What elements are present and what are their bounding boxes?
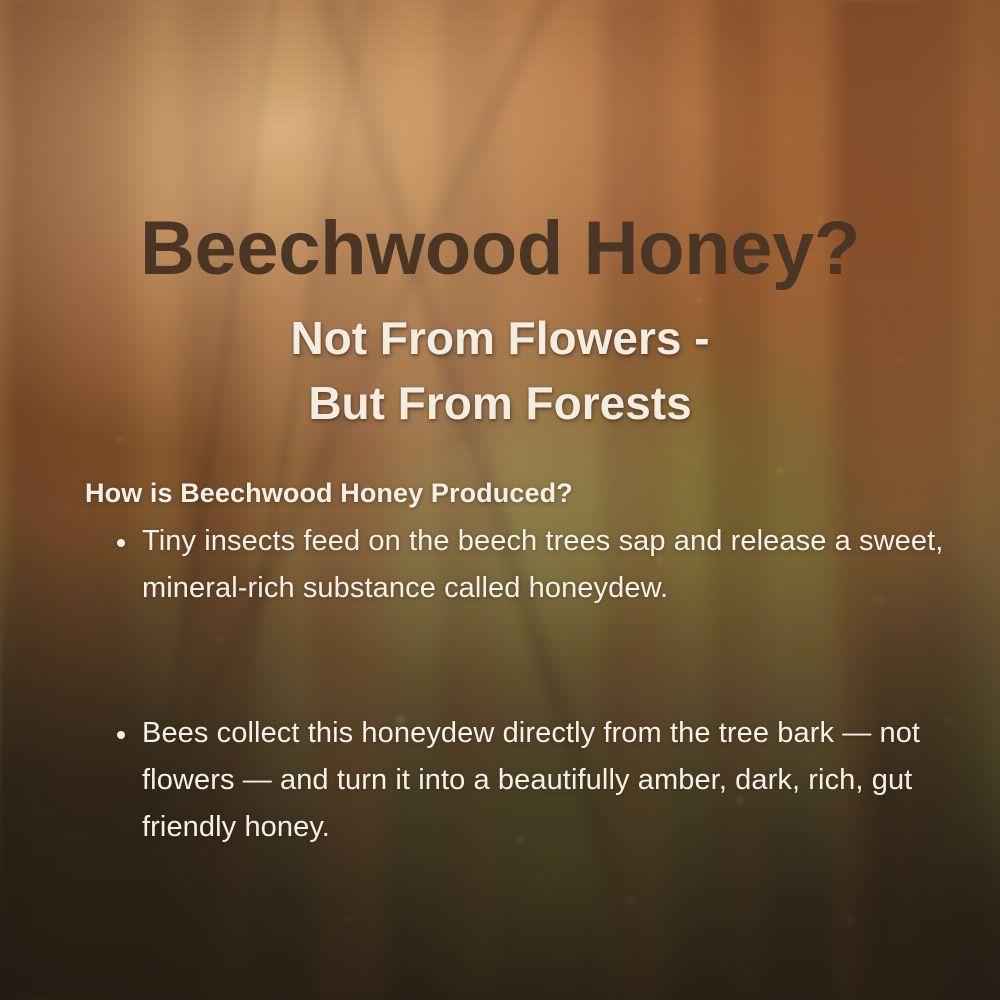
card-content: Beechwood Honey? Not From Flowers - But … <box>0 0 1000 1000</box>
beechwood-honey-infographic-card: Beechwood Honey? Not From Flowers - But … <box>0 0 1000 1000</box>
list-item-text: Tiny insects feed on the beech trees sap… <box>142 525 943 604</box>
bullet-dot-icon <box>117 539 125 547</box>
list-item-text: Bees collect this honeydew directly from… <box>142 717 920 843</box>
bullet-list: Tiny insects feed on the beech trees sap… <box>85 518 955 851</box>
subtitle-line-1: Not From Flowers - <box>0 306 1000 371</box>
page-subtitle: Not From Flowers - But From Forests <box>0 306 1000 437</box>
body-section: How is Beechwood Honey Produced? Tiny in… <box>85 478 955 851</box>
subtitle-line-2: But From Forests <box>0 371 1000 436</box>
bullet-dot-icon <box>117 731 125 739</box>
page-title: Beechwood Honey? <box>0 211 1000 287</box>
list-item: Bees collect this honeydew directly from… <box>85 710 955 851</box>
list-item: Tiny insects feed on the beech trees sap… <box>85 518 955 612</box>
body-heading: How is Beechwood Honey Produced? <box>85 478 955 509</box>
